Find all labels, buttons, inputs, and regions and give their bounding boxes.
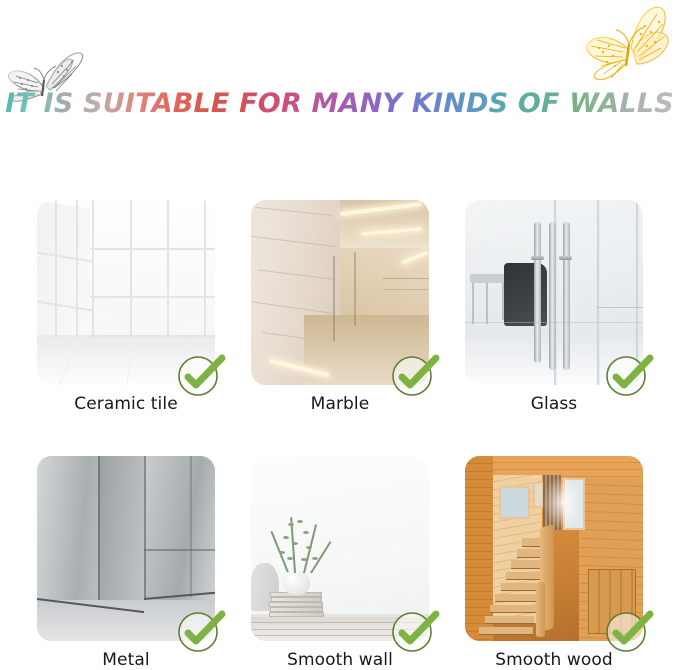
check-circle-icon-metal: [175, 605, 227, 655]
surface-thumbnail-glass: [465, 200, 643, 385]
butterfly-gold-icon: [581, 2, 675, 94]
surface-card-ceramic-tile[interactable]: Ceramic tile: [37, 200, 215, 414]
header-banner: IT IS SUITABLE FOR MANY KINDS OF WALLS: [0, 0, 679, 165]
check-circle-icon-ceramic-tile: [175, 349, 227, 399]
check-circle-icon-smooth-wood: [603, 605, 655, 655]
page-title: IT IS SUITABLE FOR MANY KINDS OF WALLS: [0, 88, 679, 119]
surface-grid: Ceramic tile: [37, 200, 642, 670]
check-circle-icon-marble: [389, 349, 441, 399]
surface-thumbnail-ceramic-tile: [37, 200, 215, 385]
surface-thumbnail-metal: [37, 456, 215, 641]
surface-thumbnail-marble: [251, 200, 429, 385]
surface-thumbnail-smooth-wood: [465, 456, 643, 641]
surface-card-smooth-wall[interactable]: Smooth wall: [251, 456, 429, 670]
surface-card-glass[interactable]: Glass: [465, 200, 643, 414]
check-circle-icon-smooth-wall: [389, 605, 441, 655]
surface-card-metal[interactable]: Metal: [37, 456, 215, 670]
surface-thumbnail-smooth-wall: [251, 456, 429, 641]
check-circle-icon-glass: [603, 349, 655, 399]
surface-card-marble[interactable]: Marble: [251, 200, 429, 414]
surface-card-smooth-wood[interactable]: Smooth wood: [465, 456, 643, 670]
